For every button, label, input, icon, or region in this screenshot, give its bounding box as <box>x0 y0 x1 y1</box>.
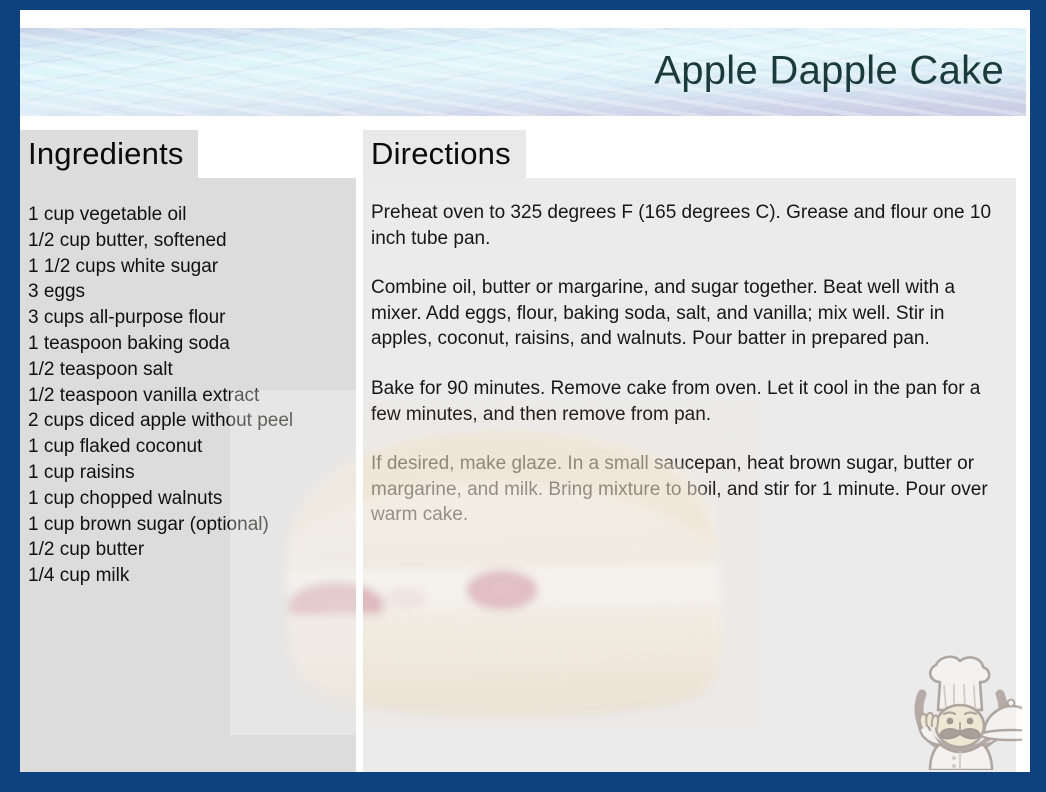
list-item: 1 cup brown sugar (optional) <box>28 512 350 538</box>
direction-paragraph: Preheat oven to 325 degrees F (165 degre… <box>371 200 999 251</box>
ingredients-list: 1 cup vegetable oil 1/2 cup butter, soft… <box>28 202 350 589</box>
list-item: 3 cups all-purpose flour <box>28 305 350 331</box>
header-banner: Apple Dapple Cake <box>20 28 1026 116</box>
direction-paragraph: Bake for 90 minutes. Remove cake from ov… <box>371 376 999 427</box>
list-item: 1 teaspoon baking soda <box>28 331 350 357</box>
list-item: 1 cup raisins <box>28 460 350 486</box>
directions-heading-tab: Directions <box>363 130 526 178</box>
list-item: 2 cups diced apple without peel <box>28 408 350 434</box>
direction-paragraph: Combine oil, butter or margarine, and su… <box>371 275 999 352</box>
direction-paragraph: If desired, make glaze. In a small sauce… <box>371 451 999 528</box>
list-item: 3 eggs <box>28 279 350 305</box>
list-item: 1/2 cup butter <box>28 537 350 563</box>
ingredients-panel: 1 cup vegetable oil 1/2 cup butter, soft… <box>20 178 356 772</box>
directions-text: Preheat oven to 325 degrees F (165 degre… <box>371 200 999 552</box>
list-item: 1/4 cup milk <box>28 563 350 589</box>
list-item: 1 cup chopped walnuts <box>28 486 350 512</box>
directions-heading-label: Directions <box>363 136 511 171</box>
recipe-card: Apple Dapple Cake Ingredients 1 cup vege… <box>20 10 1030 772</box>
list-item: 1/2 teaspoon salt <box>28 357 350 383</box>
list-item: 1/2 cup butter, softened <box>28 228 350 254</box>
list-item: 1/2 teaspoon vanilla extract <box>28 383 350 409</box>
column-gutter <box>356 178 363 772</box>
recipe-card-page: Apple Dapple Cake Ingredients 1 cup vege… <box>0 0 1046 792</box>
list-item: 1 cup vegetable oil <box>28 202 350 228</box>
ingredients-heading-tab: Ingredients <box>20 130 198 178</box>
list-item: 1 cup flaked coconut <box>28 434 350 460</box>
ingredients-heading-label: Ingredients <box>20 136 184 171</box>
page-title: Apple Dapple Cake <box>654 49 1004 94</box>
list-item: 1 1/2 cups white sugar <box>28 254 350 280</box>
directions-panel: Preheat oven to 325 degrees F (165 degre… <box>363 178 1016 772</box>
